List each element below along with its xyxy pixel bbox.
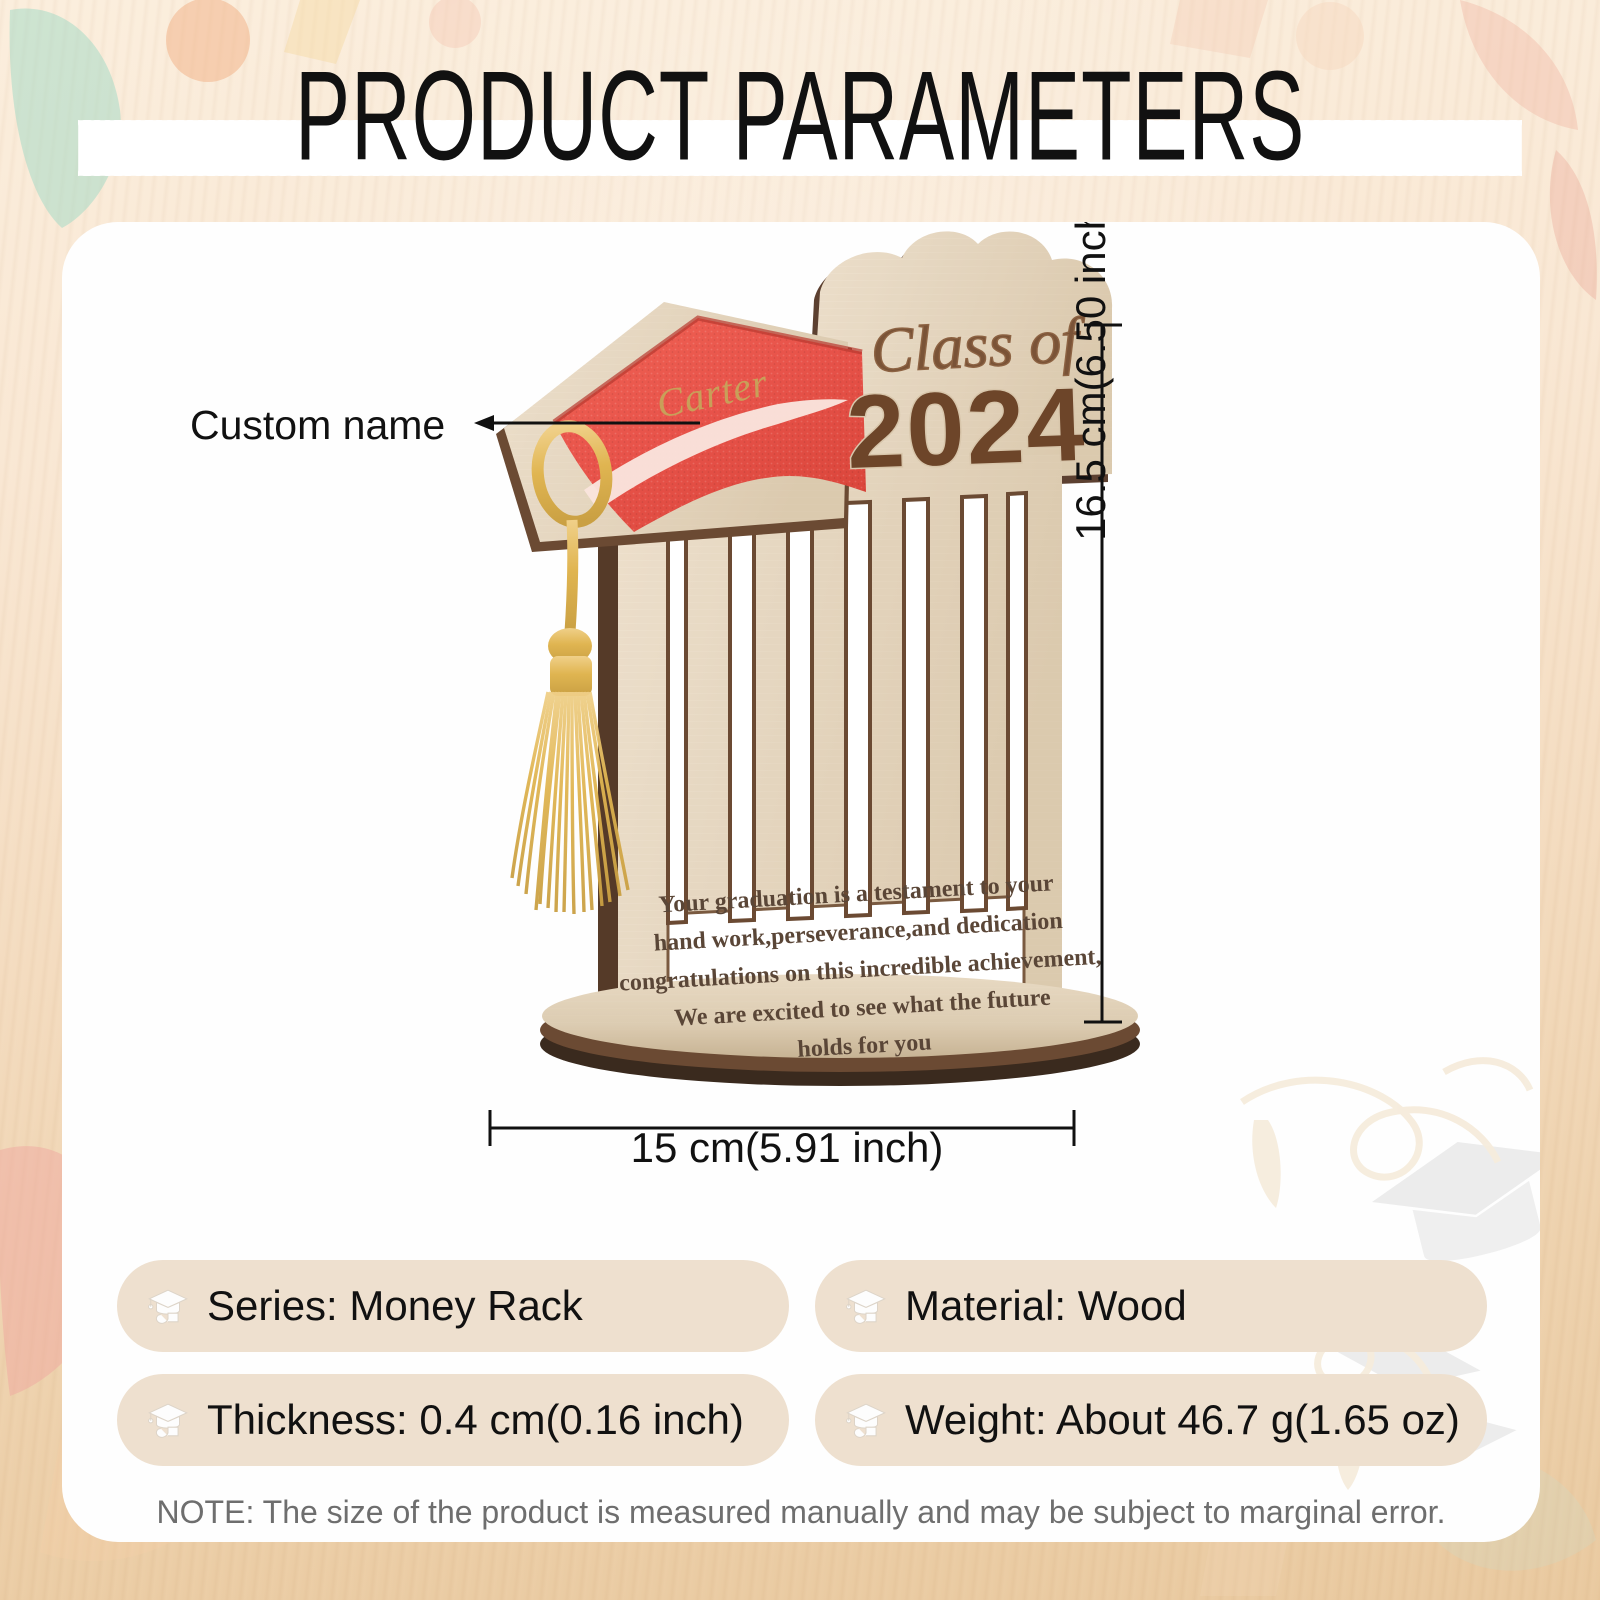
page-title-area: PRODUCT PARAMETERS bbox=[0, 52, 1600, 182]
content-card: Carter bbox=[62, 222, 1540, 1542]
parameter-text: Material: Wood bbox=[905, 1282, 1187, 1330]
graduation-cap-icon bbox=[145, 1397, 191, 1443]
width-dimension-label: 15 cm(5.91 inch) bbox=[487, 1124, 1087, 1172]
parameter-text: Weight: About 46.7 g(1.65 oz) bbox=[905, 1396, 1460, 1444]
custom-name-annotation-label: Custom name bbox=[190, 402, 445, 449]
page-title: PRODUCT PARAMETERS bbox=[295, 53, 1305, 180]
parameter-text: Thickness: 0.4 cm(0.16 inch) bbox=[207, 1396, 744, 1444]
parameter-pill-weight: Weight: About 46.7 g(1.65 oz) bbox=[815, 1374, 1487, 1466]
parameter-pill-series: Series: Money Rack bbox=[117, 1260, 789, 1352]
height-dimension-label: 16.5 cm(6.50 inch) bbox=[1067, 222, 1115, 577]
note-text: NOTE: The size of the product is measure… bbox=[62, 1494, 1540, 1531]
parameter-row-1: Series: Money Rack Material: Wood bbox=[117, 1260, 1487, 1352]
parameter-row-2: Thickness: 0.4 cm(0.16 inch) Weight: Abo… bbox=[117, 1374, 1487, 1466]
graduation-cap-icon bbox=[145, 1283, 191, 1329]
graduation-cap-icon bbox=[843, 1397, 889, 1443]
class-of-text: Class of 2024 bbox=[845, 304, 1089, 491]
class-year-text: 2024 bbox=[845, 367, 1088, 491]
parameter-pill-thickness: Thickness: 0.4 cm(0.16 inch) bbox=[117, 1374, 789, 1466]
graduation-cap-icon bbox=[843, 1283, 889, 1329]
left-arrow-icon bbox=[472, 408, 702, 438]
parameter-pill-material: Material: Wood bbox=[815, 1260, 1487, 1352]
parameter-text: Series: Money Rack bbox=[207, 1282, 583, 1330]
